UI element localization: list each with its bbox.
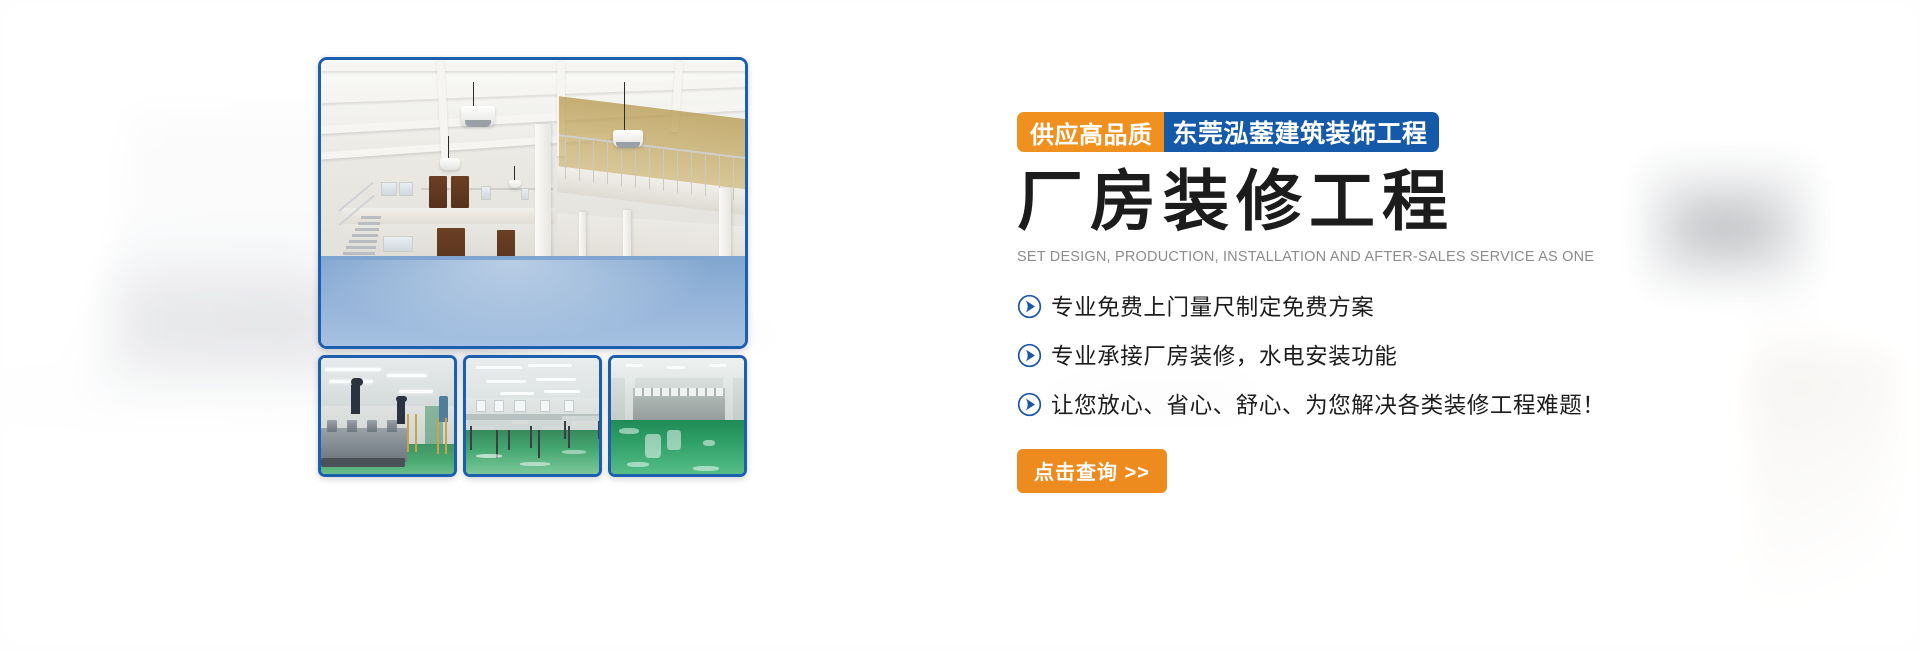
promo-banner: 供应高品质 东莞泓蓥建筑装饰工程 厂房装修工程 SET DESIGN, PROD… xyxy=(0,0,1920,650)
ceiling-installation-photo[interactable] xyxy=(318,355,457,477)
circled-right-arrow-icon xyxy=(1017,294,1042,319)
list-item: 让您放心、省心、舒心、为您解决各类装修工程难题！ xyxy=(1017,388,1897,420)
green-epoxy-floor-photo[interactable] xyxy=(608,355,747,477)
list-item-label: 专业承接厂房装修，水电安装功能 xyxy=(1051,339,1398,371)
badge-company-name: 东莞泓蓥建筑装饰工程 xyxy=(1164,112,1439,152)
inquiry-button[interactable]: 点击查询 >> xyxy=(1017,449,1167,493)
workshop-tables-photo[interactable] xyxy=(463,355,602,477)
list-item-label: 专业免费上门量尺制定免费方案 xyxy=(1051,290,1374,322)
headline-badge: 供应高品质 东莞泓蓥建筑装饰工程 xyxy=(1017,112,1897,152)
warehouse-interior-photo[interactable] xyxy=(318,57,748,349)
page-subtitle: SET DESIGN, PRODUCTION, INSTALLATION AND… xyxy=(1017,249,1897,265)
circled-right-arrow-icon xyxy=(1017,392,1042,417)
promo-content: 供应高品质 东莞泓蓥建筑装饰工程 厂房装修工程 SET DESIGN, PROD… xyxy=(1017,112,1897,493)
feature-list: 专业免费上门量尺制定免费方案 专业承接厂房装修，水电安装功能 让您放心、省心、舒… xyxy=(1017,290,1897,420)
circled-right-arrow-icon xyxy=(1017,343,1042,368)
thumbnail-strip xyxy=(318,355,748,477)
badge-quality-tag: 供应高品质 xyxy=(1017,112,1164,152)
photo-gallery xyxy=(318,57,748,477)
page-title: 厂房装修工程 xyxy=(1017,166,1897,237)
list-item: 专业承接厂房装修，水电安装功能 xyxy=(1017,339,1897,371)
list-item: 专业免费上门量尺制定免费方案 xyxy=(1017,290,1897,322)
list-item-label: 让您放心、省心、舒心、为您解决各类装修工程难题！ xyxy=(1051,388,1605,420)
